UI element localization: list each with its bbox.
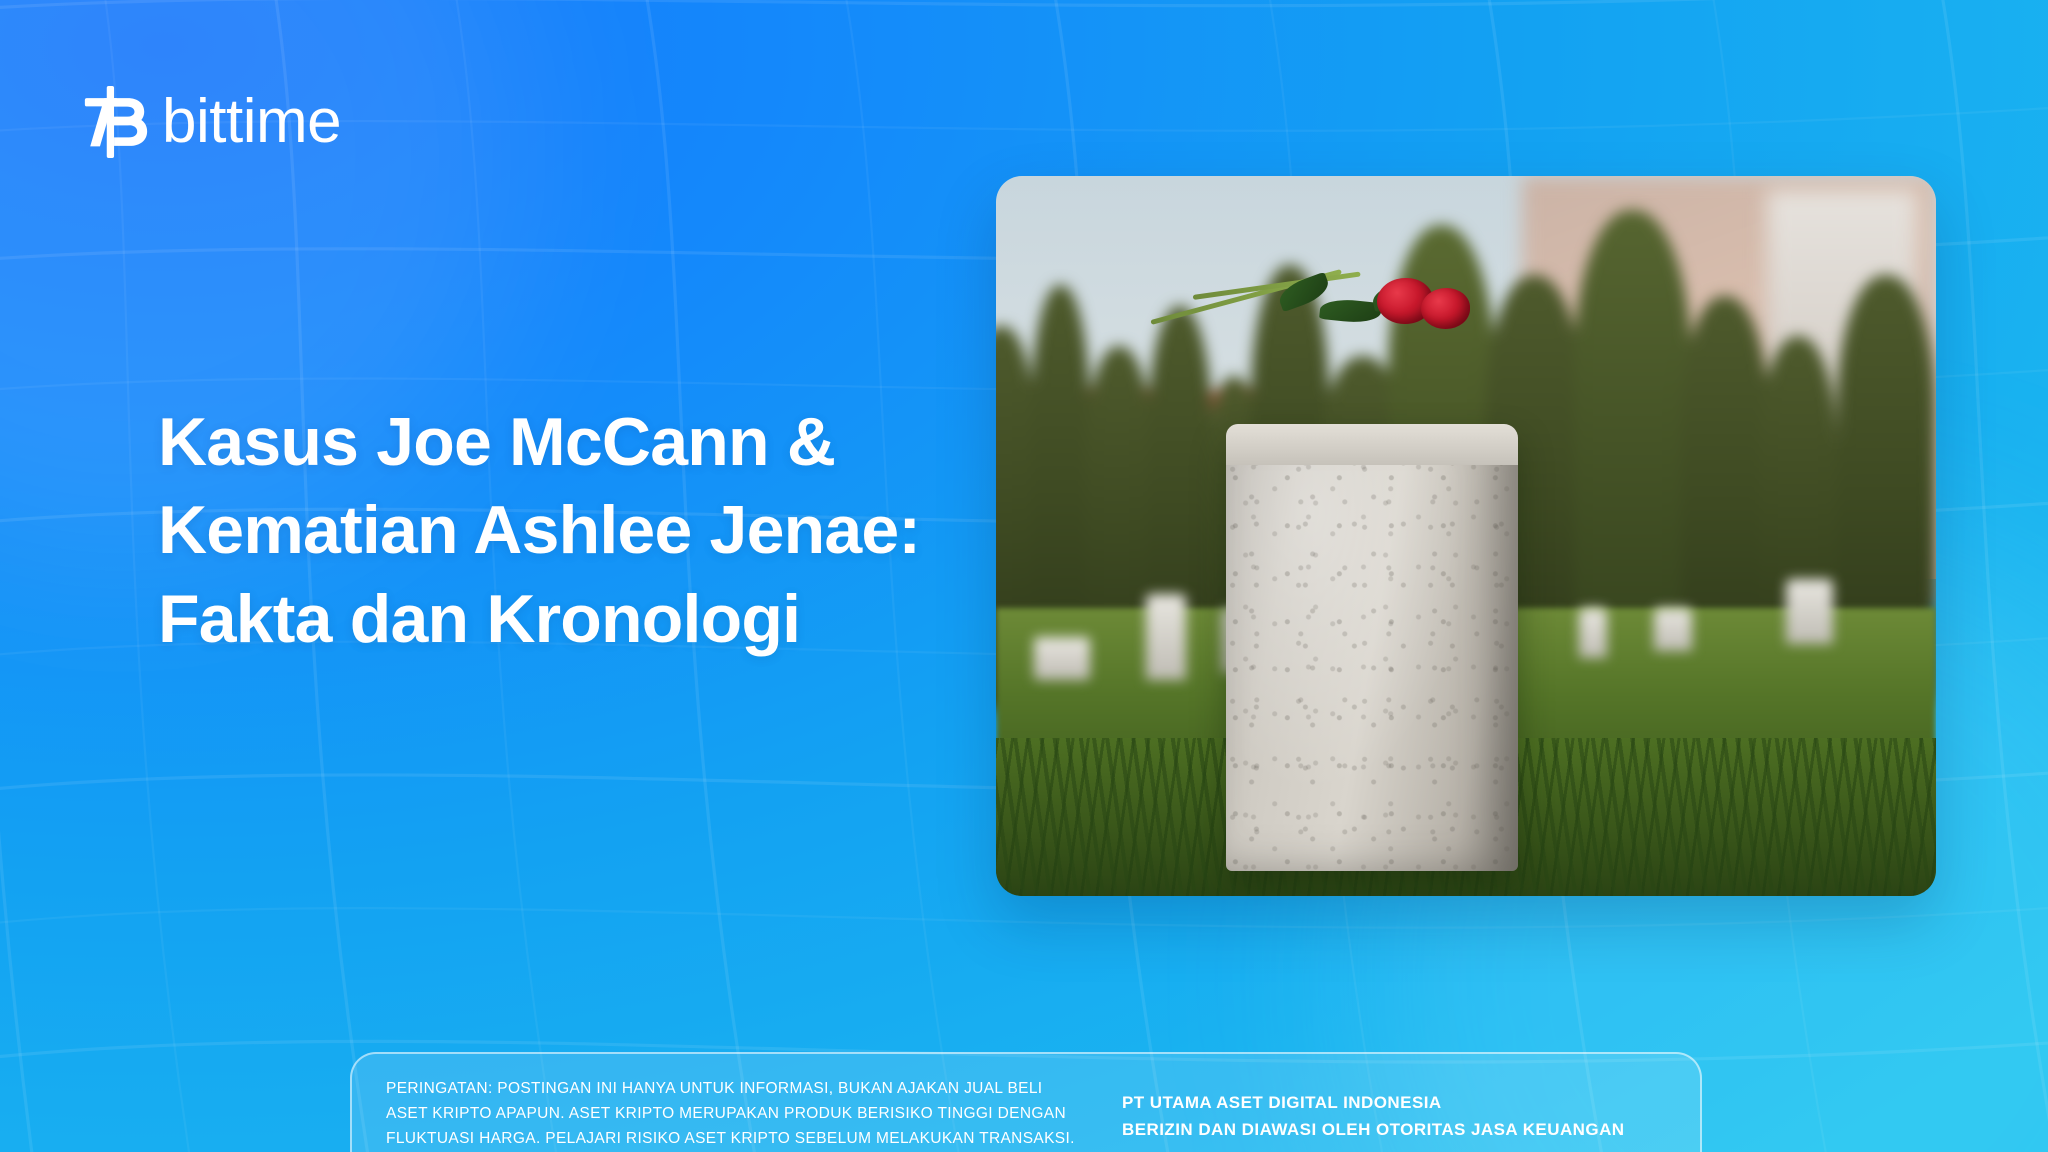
risk-warning-line-3: FLUKTUASI HARGA. PELAJARI RISIKO ASET KR… xyxy=(386,1126,1086,1151)
risk-warning-line-2: ASET KRIPTO APAPUN. ASET KRIPTO MERUPAKA… xyxy=(386,1101,1086,1126)
cemetery-gravestone-photo xyxy=(996,176,1936,896)
photo-distant-headstone xyxy=(1579,608,1607,658)
photo-red-rose xyxy=(1421,288,1470,328)
photo-distant-headstone xyxy=(1146,594,1185,680)
article-cover-card: bittime Kasus Joe McCann & Kematian Ashl… xyxy=(0,0,2048,1152)
risk-warning-line-1: PERINGATAN: POSTINGAN INI HANYA UNTUK IN… xyxy=(386,1076,1086,1101)
photo-distant-headstone xyxy=(1654,608,1692,651)
brand-wordmark: bittime xyxy=(162,91,341,153)
company-name: PT UTAMA ASET DIGITAL INDONESIA xyxy=(1122,1090,1625,1117)
company-license-text: PT UTAMA ASET DIGITAL INDONESIA BERIZIN … xyxy=(1122,1076,1625,1144)
photo-gravestone-top xyxy=(1226,424,1517,464)
headline-line-1: Kasus Joe McCann & xyxy=(158,398,978,486)
brand-logo[interactable]: bittime xyxy=(84,86,341,158)
legal-disclaimer-bar: PERINGATAN: POSTINGAN INI HANYA UNTUK IN… xyxy=(350,1052,1702,1152)
risk-warning-text: PERINGATAN: POSTINGAN INI HANYA UNTUK IN… xyxy=(386,1076,1086,1151)
photo-distant-headstone xyxy=(1786,579,1833,644)
photo-gravestone xyxy=(1226,424,1517,870)
article-hero-image xyxy=(996,176,1936,896)
headline-line-2: Kematian Ashlee Jenae: xyxy=(158,486,978,574)
photo-distant-headstone xyxy=(1034,637,1090,680)
headline-line-3: Fakta dan Kronologi xyxy=(158,575,978,663)
page-title: Kasus Joe McCann & Kematian Ashlee Jenae… xyxy=(158,398,978,663)
company-license: BERIZIN DAN DIAWASI OLEH OTORITAS JASA K… xyxy=(1122,1117,1625,1144)
bittime-b-mark-icon xyxy=(84,86,148,158)
